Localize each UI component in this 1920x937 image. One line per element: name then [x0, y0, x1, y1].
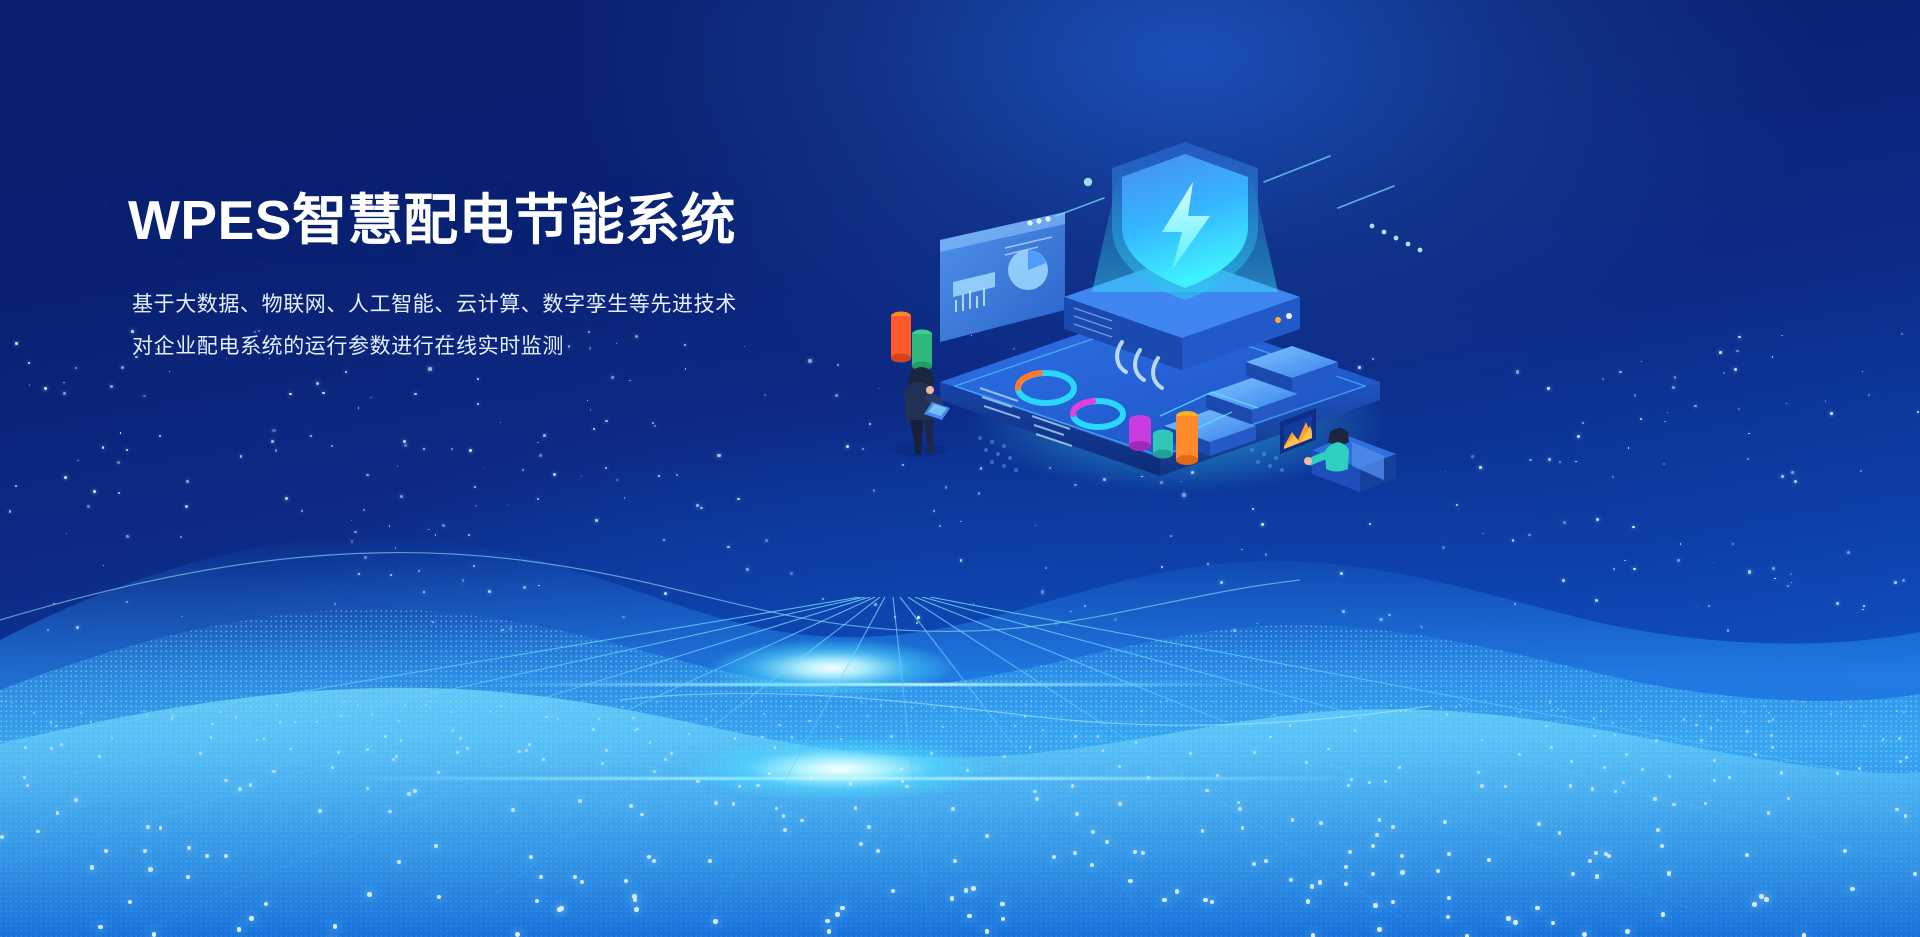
star — [1830, 412, 1833, 415]
star — [717, 454, 720, 457]
star — [103, 565, 104, 566]
window-dot-2 — [1036, 218, 1041, 223]
star — [120, 432, 121, 433]
star — [1736, 350, 1739, 353]
bar-magenta — [1129, 415, 1151, 451]
star — [169, 371, 170, 372]
star — [1220, 581, 1223, 584]
star — [1732, 543, 1734, 545]
star — [587, 400, 589, 402]
star — [1791, 582, 1792, 583]
star — [1628, 447, 1629, 448]
star — [358, 407, 360, 409]
star — [66, 533, 67, 534]
star — [835, 394, 838, 397]
star — [1894, 581, 1897, 584]
star — [1667, 412, 1668, 413]
star — [1340, 572, 1343, 575]
star — [1559, 461, 1561, 463]
star — [737, 498, 740, 501]
star — [1791, 471, 1794, 474]
star — [676, 474, 678, 476]
hero-subtitle-line-1: 基于大数据、物联网、人工智能、云计算、数字孪生等先进技术 — [132, 284, 737, 326]
star — [15, 485, 17, 487]
seated-person-hand — [1304, 457, 1312, 465]
bar-green — [912, 330, 932, 371]
star — [1790, 573, 1792, 575]
window-dot-1 — [1045, 216, 1050, 221]
star — [15, 342, 18, 345]
star — [423, 448, 425, 450]
star — [488, 590, 491, 593]
star — [1035, 525, 1036, 526]
star — [539, 454, 542, 457]
star — [1577, 435, 1580, 438]
star — [180, 536, 182, 538]
star — [110, 385, 113, 388]
star — [1482, 533, 1484, 535]
star — [1917, 411, 1919, 413]
star — [593, 428, 595, 430]
star — [652, 422, 654, 424]
star — [808, 359, 811, 362]
star — [395, 547, 397, 549]
star — [428, 367, 431, 370]
star — [351, 540, 354, 543]
star — [1045, 567, 1047, 569]
star — [275, 449, 277, 451]
star — [1772, 567, 1775, 570]
star — [423, 591, 425, 593]
star — [1602, 378, 1604, 380]
star — [126, 535, 129, 538]
star — [1901, 333, 1904, 336]
star — [1170, 535, 1172, 537]
star — [75, 367, 77, 369]
star — [469, 449, 472, 452]
star — [354, 531, 357, 534]
page-title: WPES智慧配电节能系统 — [128, 190, 737, 252]
star — [700, 507, 702, 509]
status-led-amber — [1275, 317, 1281, 323]
star — [1575, 461, 1577, 463]
star — [960, 521, 961, 522]
star — [310, 435, 312, 437]
star — [475, 505, 477, 507]
star — [186, 480, 189, 483]
hero-copy: WPES智慧配电节能系统 基于大数据、物联网、人工智能、云计算、数字孪生等先进技… — [128, 190, 737, 368]
hero-banner: WPES智慧配电节能系统 基于大数据、物联网、人工智能、云计算、数字孪生等先进技… — [0, 0, 1920, 937]
star — [1596, 518, 1599, 521]
star — [1512, 539, 1515, 542]
star — [1613, 568, 1615, 570]
star — [1640, 418, 1642, 420]
star — [1664, 421, 1666, 423]
star — [696, 504, 699, 507]
star — [1547, 387, 1550, 390]
star — [605, 420, 608, 423]
star — [1548, 458, 1551, 461]
star — [400, 495, 403, 498]
grid-horizontals — [0, 599, 1920, 900]
star — [658, 475, 660, 477]
star — [1781, 335, 1783, 337]
star — [846, 445, 849, 448]
status-led-white — [1286, 313, 1292, 319]
star — [1860, 470, 1862, 472]
star — [477, 403, 479, 405]
streak-3 — [1056, 198, 1104, 216]
star — [764, 394, 766, 396]
bar-orange-tall — [891, 312, 911, 363]
window-dot-3 — [1027, 220, 1032, 225]
star — [1634, 394, 1637, 397]
star — [477, 378, 478, 379]
grid-svg — [0, 597, 1920, 937]
star — [451, 448, 453, 450]
star — [63, 382, 65, 384]
star — [240, 455, 243, 458]
star — [366, 474, 369, 477]
star — [1528, 534, 1531, 537]
star — [765, 539, 768, 542]
star — [1748, 570, 1751, 573]
star — [1041, 590, 1044, 593]
star — [790, 572, 793, 575]
star — [117, 461, 120, 464]
star — [746, 568, 749, 571]
star — [484, 468, 485, 469]
star — [462, 585, 464, 587]
star — [1261, 523, 1264, 526]
star — [316, 382, 319, 385]
star — [616, 479, 618, 481]
star — [351, 520, 352, 521]
star — [28, 362, 30, 364]
star — [1516, 370, 1519, 373]
star — [1641, 361, 1642, 362]
star — [1612, 476, 1614, 478]
illustration-svg — [860, 120, 1460, 500]
star — [331, 445, 333, 447]
star — [1674, 376, 1677, 379]
star — [1252, 508, 1255, 511]
star — [1787, 585, 1789, 587]
star — [1632, 526, 1634, 528]
star — [1847, 551, 1850, 554]
star — [272, 429, 275, 432]
star — [1672, 386, 1675, 389]
star — [389, 525, 391, 527]
star — [1633, 568, 1636, 571]
star — [442, 524, 445, 527]
star — [1677, 559, 1680, 562]
star — [624, 497, 625, 498]
star — [390, 574, 392, 576]
star — [1471, 455, 1474, 458]
star — [468, 534, 469, 535]
star — [370, 397, 371, 398]
hero-subtitle: 基于大数据、物联网、人工智能、云计算、数字孪生等先进技术 对企业配电系统的运行参… — [132, 284, 737, 368]
star — [538, 585, 540, 587]
star — [523, 586, 526, 589]
star — [939, 525, 941, 527]
star — [126, 449, 128, 451]
star — [143, 395, 146, 398]
star — [364, 556, 367, 559]
star — [611, 376, 614, 379]
star — [508, 504, 509, 505]
star — [1624, 560, 1626, 562]
star — [1582, 422, 1585, 425]
star — [1794, 480, 1797, 483]
star — [664, 592, 667, 595]
star — [1562, 579, 1565, 582]
star — [29, 384, 31, 386]
star — [473, 565, 475, 567]
star — [744, 346, 746, 348]
star — [605, 467, 607, 469]
star — [1713, 562, 1714, 563]
star — [1479, 466, 1482, 469]
person-hand — [926, 386, 934, 394]
star — [685, 368, 686, 369]
star — [1738, 336, 1741, 339]
star — [1781, 475, 1784, 478]
streak-2 — [1338, 186, 1394, 208]
star — [1442, 546, 1445, 549]
star — [159, 435, 161, 437]
star — [363, 509, 365, 511]
star — [1734, 368, 1737, 371]
star — [1161, 566, 1163, 568]
star — [1748, 433, 1750, 435]
star — [1680, 543, 1682, 545]
star — [654, 425, 656, 427]
star — [1772, 356, 1774, 358]
star — [121, 366, 124, 369]
star — [1747, 458, 1749, 460]
star — [358, 573, 360, 575]
star — [629, 380, 630, 381]
star — [1738, 408, 1741, 411]
star — [418, 570, 420, 572]
grid-verticals — [0, 597, 1920, 937]
star — [77, 460, 79, 462]
star — [727, 546, 730, 549]
panel-pie-chart — [1008, 250, 1048, 290]
star — [118, 492, 120, 494]
star — [435, 534, 437, 536]
hero-subtitle-line-2: 对企业配电系统的运行参数进行在线实时监测 — [132, 326, 737, 368]
star — [1862, 371, 1863, 372]
star — [1563, 521, 1566, 524]
star — [474, 486, 477, 489]
star — [590, 409, 592, 411]
bar-cluster-left — [891, 312, 932, 371]
star — [414, 393, 416, 395]
star — [1694, 405, 1696, 407]
star — [1663, 463, 1665, 465]
star — [543, 434, 546, 437]
bar-amber — [1176, 411, 1198, 465]
star — [44, 387, 47, 390]
star — [1902, 579, 1905, 582]
star — [1719, 351, 1722, 354]
accent-dot-glow — [1084, 178, 1092, 186]
isometric-smart-power-platform — [860, 120, 1460, 500]
star — [397, 465, 399, 467]
star — [1529, 459, 1532, 462]
star — [1774, 578, 1776, 580]
star — [64, 476, 67, 479]
star — [102, 446, 105, 449]
star — [185, 505, 188, 508]
star — [93, 490, 96, 493]
star — [553, 473, 556, 476]
star — [285, 497, 288, 500]
perspective-grid-floor — [0, 597, 1920, 937]
star — [1265, 553, 1268, 556]
star — [500, 422, 501, 423]
star — [663, 539, 665, 541]
star — [345, 371, 347, 373]
star — [9, 510, 12, 513]
star — [1723, 372, 1726, 375]
star — [1619, 371, 1621, 373]
star — [960, 559, 962, 561]
star — [1369, 523, 1371, 525]
streak-1 — [1264, 156, 1330, 182]
star — [837, 364, 839, 366]
star — [595, 519, 598, 522]
star — [428, 529, 430, 531]
star — [462, 579, 465, 582]
star — [322, 392, 325, 395]
star — [537, 442, 538, 443]
star — [63, 392, 66, 395]
star — [537, 498, 539, 500]
star — [1786, 403, 1787, 404]
star — [522, 469, 524, 471]
star — [403, 440, 406, 443]
star — [933, 510, 935, 512]
floating-dashboard-window — [940, 212, 1065, 342]
star — [289, 393, 292, 396]
star — [1241, 549, 1243, 551]
star — [581, 476, 582, 477]
star — [301, 510, 303, 512]
star — [1207, 563, 1209, 565]
person-standing-with-tablet — [894, 367, 950, 457]
star — [271, 440, 274, 443]
star — [1456, 504, 1458, 506]
star — [1825, 400, 1827, 402]
star — [404, 444, 407, 447]
star — [1868, 394, 1870, 396]
star — [87, 505, 90, 508]
bar-teal — [1153, 430, 1173, 459]
